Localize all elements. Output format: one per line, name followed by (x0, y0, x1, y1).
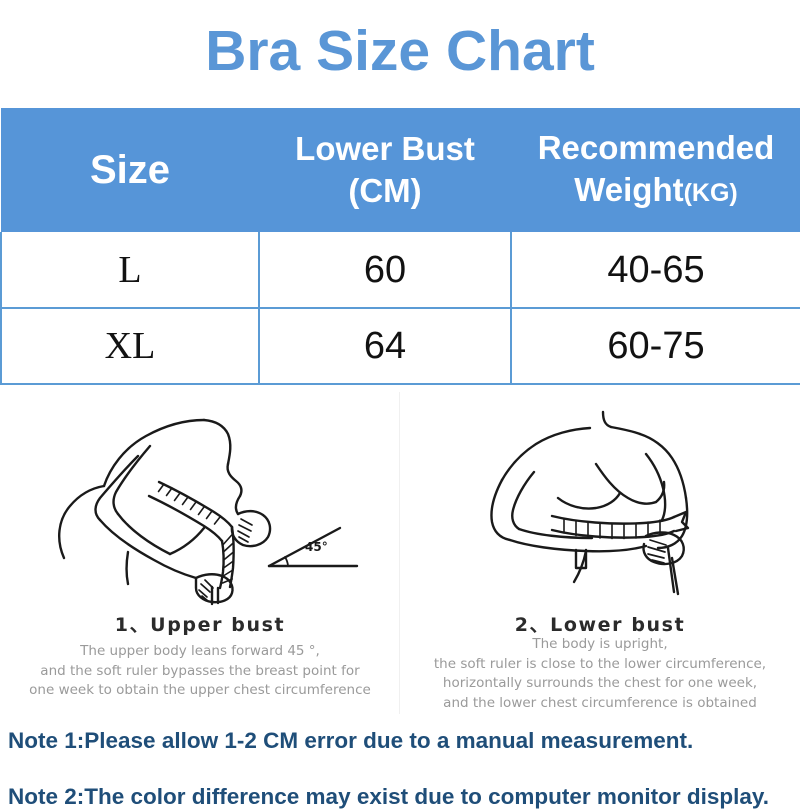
step-heading-lower-bust: 2、Lower bust (400, 610, 800, 637)
cell-size: L (1, 232, 259, 308)
cell-recommended-weight: 40-65 (511, 232, 800, 308)
column-header-lower-bust-unit: (CM) (259, 170, 511, 212)
step-description-lower-bust: The body is upright, the soft ruler is c… (400, 635, 800, 713)
step-description-upper-bust: The upper body leans forward 45 °, and t… (0, 642, 400, 701)
angle-45-label: 45° (305, 540, 328, 554)
column-header-recommended-weight-label: Recommended (511, 127, 800, 169)
step-line: and the lower chest circumference is obt… (400, 694, 800, 714)
step-line: the soft ruler is close to the lower cir… (400, 655, 800, 675)
size-table: Size Lower Bust (CM) Recommended Weight(… (0, 108, 800, 385)
column-header-size: Size (1, 108, 259, 232)
bra-size-chart-page: Bra Size Chart Size Lower Bust (CM) Reco… (0, 0, 800, 800)
step-line: The upper body leans forward 45 °, (0, 642, 400, 662)
table-header-row: Size Lower Bust (CM) Recommended Weight(… (1, 108, 800, 232)
step-line: and the soft ruler bypasses the breast p… (0, 662, 400, 682)
column-header-lower-bust-label: Lower Bust (259, 128, 511, 170)
notes-section: Note 1:Please allow 1-2 CM error due to … (8, 722, 800, 812)
cell-lower-bust: 64 (259, 308, 511, 384)
table-body: L 60 40-65 XL 64 60-75 (1, 232, 800, 384)
column-header-recommended-weight-line2: Weight(KG) (511, 169, 800, 214)
cell-size: XL (1, 308, 259, 384)
cell-lower-bust: 60 (259, 232, 511, 308)
column-header-size-label: Size (1, 147, 259, 193)
step-line: one week to obtain the upper chest circu… (0, 681, 400, 701)
upper-bust-figure: 45° (0, 398, 400, 610)
step-heading-upper-bust: 1、Upper bust (0, 610, 400, 637)
table-header: Size Lower Bust (CM) Recommended Weight(… (1, 108, 800, 232)
table-row: XL 64 60-75 (1, 308, 800, 384)
step-line: horizontally surrounds the chest for one… (400, 674, 800, 694)
note-1: Note 1:Please allow 1-2 CM error due to … (8, 726, 800, 756)
step-line: The body is upright, (400, 635, 800, 655)
column-header-weight-word: Weight (574, 171, 683, 208)
measurement-illustrations: 45° 1、Upper bust The upper body leans fo… (0, 392, 800, 714)
note-2: Note 2:The color difference may exist du… (8, 782, 800, 812)
panel-upper-bust: 45° 1、Upper bust The upper body leans fo… (0, 392, 400, 714)
lower-bust-figure (400, 398, 800, 610)
page-title: Bra Size Chart (0, 14, 800, 88)
column-header-recommended-weight: Recommended Weight(KG) (511, 108, 800, 232)
cell-recommended-weight: 60-75 (511, 308, 800, 384)
panel-lower-bust: 2、Lower bust The body is upright, the so… (400, 392, 800, 714)
column-header-lower-bust: Lower Bust (CM) (259, 108, 511, 232)
column-header-weight-unit: (KG) (684, 179, 738, 207)
table-row: L 60 40-65 (1, 232, 800, 308)
